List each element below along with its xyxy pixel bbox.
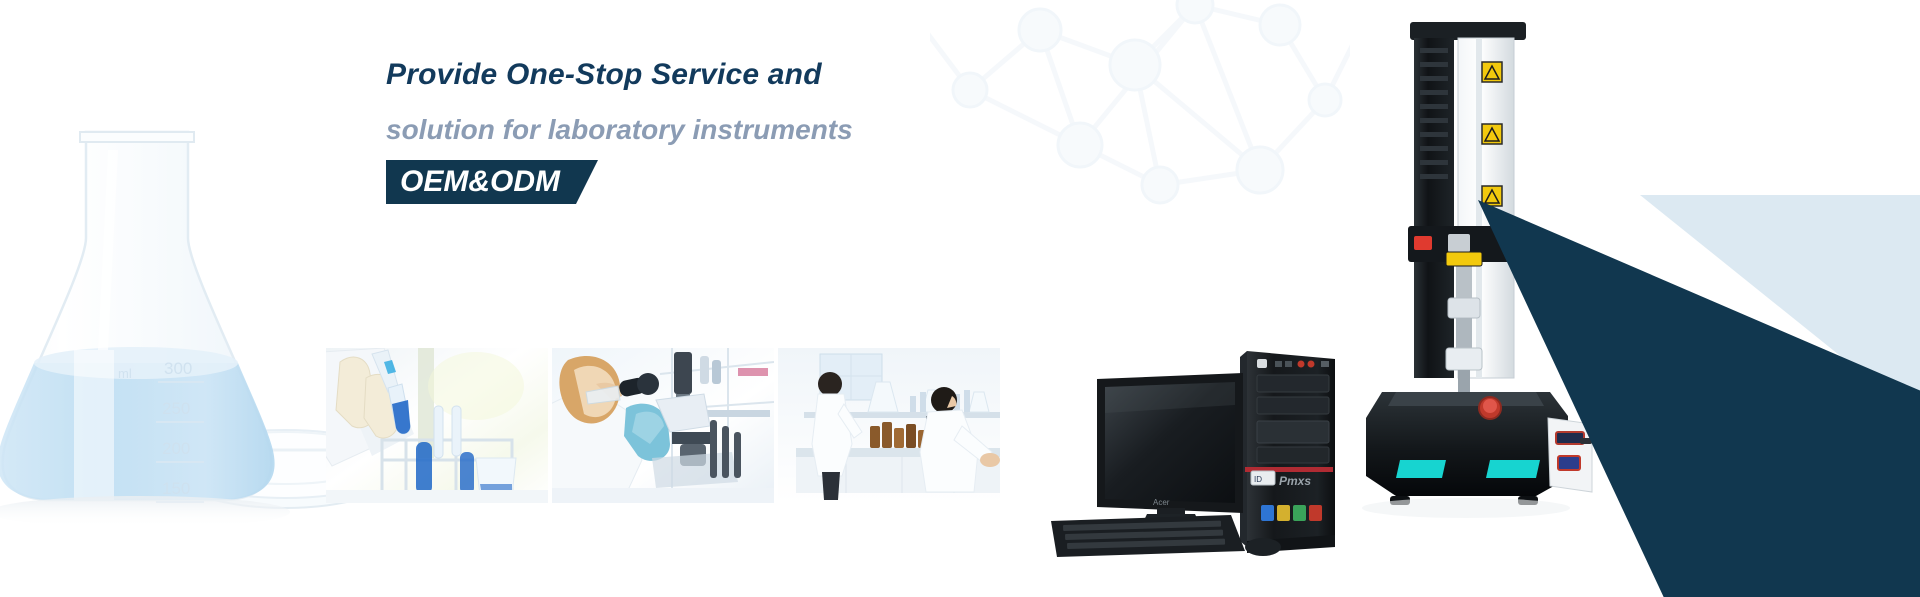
- svg-text:Acer: Acer: [1153, 498, 1170, 507]
- hero-banner: 300 250 200 150 ml Provide One-Stop Serv…: [0, 0, 1920, 597]
- photo-microscope: [552, 348, 774, 503]
- oem-odm-badge: OEM&ODM: [386, 160, 576, 204]
- flask-graduation-150: 150: [162, 479, 190, 498]
- lab-photo-strip: [326, 348, 1000, 503]
- flask-graduation-200: 200: [162, 439, 190, 458]
- svg-text:Pmxs: Pmxs: [1279, 474, 1311, 488]
- flask-graduation-300: 300: [164, 359, 192, 378]
- photo-pipetting: [326, 348, 548, 503]
- desktop-computer-photo: ID Pmxs Acer: [1035, 345, 1380, 560]
- svg-text:ID: ID: [1254, 475, 1262, 484]
- flask-graduation-250: 250: [162, 399, 190, 418]
- headline-secondary: solution for laboratory instruments: [386, 116, 1026, 144]
- badge-tail-shape: [576, 160, 598, 204]
- headline-primary: Provide One-Stop Service and: [386, 60, 1026, 90]
- photo-lab-bench: [778, 348, 1000, 503]
- flask-unit-label: ml: [118, 366, 132, 381]
- headline-block: Provide One-Stop Service and solution fo…: [386, 60, 1026, 204]
- oem-odm-badge-label: OEM&ODM: [386, 160, 576, 204]
